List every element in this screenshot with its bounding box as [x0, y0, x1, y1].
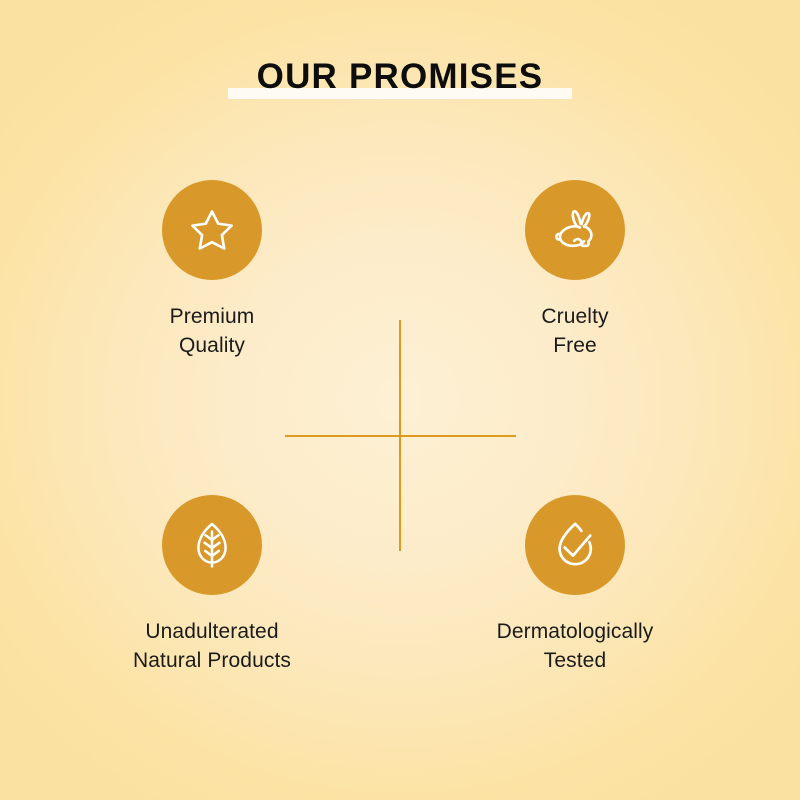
cross-divider-horizontal-line [285, 435, 516, 437]
rabbit-icon [549, 204, 601, 256]
promise-item-cruelty-free: Cruelty Free [425, 180, 725, 360]
droplet-check-icon [549, 518, 601, 572]
our-promises-panel: OUR PROMISES Premium Quality [0, 0, 800, 800]
promise-item-natural-products: Unadulterated Natural Products [62, 495, 362, 675]
promise-item-premium-quality: Premium Quality [62, 180, 362, 360]
promise-label-dermatologically-tested: Dermatologically Tested [425, 617, 725, 675]
promise-icon-circle-dermatologically-tested [525, 495, 625, 595]
promise-label-cruelty-free: Cruelty Free [425, 302, 725, 360]
promise-icon-circle-premium-quality [162, 180, 262, 280]
page-title-block: OUR PROMISES [0, 56, 800, 98]
promise-label-premium-quality: Premium Quality [62, 302, 362, 360]
promise-icon-circle-natural-products [162, 495, 262, 595]
leaf-icon [187, 518, 237, 572]
promise-item-dermatologically-tested: Dermatologically Tested [425, 495, 725, 675]
star-icon [187, 205, 237, 255]
promise-icon-circle-cruelty-free [525, 180, 625, 280]
page-title: OUR PROMISES [257, 56, 544, 98]
promise-label-natural-products: Unadulterated Natural Products [62, 617, 362, 675]
